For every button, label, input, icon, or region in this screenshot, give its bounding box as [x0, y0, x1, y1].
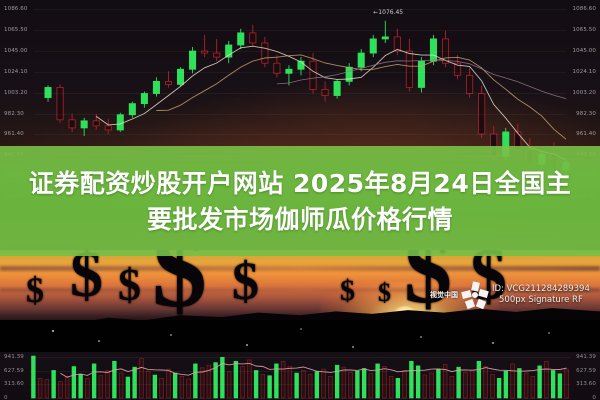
price-tick-label: 1003.20 [573, 90, 596, 96]
volume-tick-label: 0 [592, 395, 596, 400]
volume-bar [490, 374, 494, 398]
volume-bar [112, 361, 116, 398]
volume-gridline [30, 371, 570, 372]
volume-bar [376, 364, 380, 398]
volume-tick-label: 0 [4, 395, 8, 400]
dollar-sign-silhouette: $ [232, 254, 259, 308]
volume-bar [342, 367, 346, 398]
dollar-sign-silhouette: $ [340, 276, 355, 306]
dollar-sign-silhouette: $ [118, 262, 141, 308]
dust-particle [492, 342, 494, 344]
dust-particle [352, 346, 354, 348]
watermark-brand-label: 视觉中国 [430, 290, 458, 300]
gridline [34, 9, 566, 10]
volume-bar [463, 372, 467, 398]
volume-bar [558, 374, 562, 398]
volume-bar [281, 361, 285, 398]
price-tick-label: 982.30 [4, 111, 24, 117]
volume-gridline [30, 384, 570, 385]
volume-bar [92, 364, 96, 398]
volume-bar [31, 356, 35, 398]
volume-gridline [30, 357, 570, 358]
volume-bar [133, 367, 137, 398]
price-tick-label: 1045.00 [573, 48, 596, 54]
volume-bar [531, 376, 535, 398]
volume-tick-label: 313.60 [576, 381, 596, 387]
volume-tick-label: 313.60 [4, 381, 24, 387]
volume-bar [295, 373, 299, 398]
volume-tick-label: 941.39 [576, 354, 596, 360]
screenshot-root: $ $ $ $ $ $ $ $ $ ←1076.45 1086.601065.5… [0, 0, 600, 400]
volume-gridline [30, 398, 570, 399]
volume-bar [38, 378, 42, 398]
price-tick-label: 961.40 [576, 131, 596, 137]
gridline [34, 51, 566, 52]
gridline [34, 72, 566, 73]
watermark-license: 500px Signature RF [492, 295, 590, 306]
peak-annotation: ←1076.45 [373, 9, 403, 16]
volume-bar [153, 375, 157, 398]
volume-bar [268, 376, 272, 398]
volume-bar [45, 380, 49, 398]
volume-bar [524, 373, 528, 398]
dollar-sign-silhouette: $ [378, 280, 391, 306]
volume-tick-label: 627.59 [4, 368, 24, 374]
dust-particle [170, 334, 172, 336]
volume-bar [328, 376, 332, 398]
dust-particle [246, 344, 248, 346]
volume-tick-label: 627.59 [576, 368, 596, 374]
volume-bar [160, 378, 164, 398]
price-tick-label: 982.30 [576, 111, 596, 117]
volume-bar [187, 379, 191, 398]
volume-bar [450, 376, 454, 398]
volume-bar [126, 377, 130, 398]
volume-bar [511, 364, 515, 398]
volume-bar [409, 361, 413, 398]
price-tick-label: 1024.10 [573, 69, 596, 75]
headline-line-1: 证券配资炒股开户网站 2025年8月24日全国主 [29, 169, 571, 199]
dollar-sign-silhouette: $ [26, 272, 44, 308]
price-tick-label: 1086.60 [573, 6, 596, 12]
volume-bar [119, 373, 123, 398]
watermark-id: ID: VCG211284289394 [492, 284, 590, 295]
volume-bar [139, 359, 143, 398]
volume-bar [497, 378, 501, 398]
volume-bar [180, 376, 184, 398]
dust-particle [548, 332, 550, 334]
volume-bar [430, 373, 434, 398]
price-tick-label: 1086.60 [4, 6, 27, 12]
gridline [34, 30, 566, 31]
price-tick-label: 1003.20 [4, 90, 27, 96]
dust-particle [52, 330, 54, 332]
volume-bar [99, 376, 103, 398]
volume-bar [389, 376, 393, 398]
volume-bar [247, 360, 251, 398]
volume-bar [261, 374, 265, 398]
dust-particle [300, 328, 302, 330]
gridline [34, 114, 566, 115]
gridline [34, 93, 566, 94]
volume-bar [308, 374, 312, 398]
volume-bar [349, 372, 353, 398]
volume-bar [477, 361, 481, 398]
watermark: 视觉中国 ID: VCG211284289394 500px Signature… [430, 282, 590, 308]
volume-bar [193, 364, 197, 398]
volume-bar [79, 374, 83, 398]
watermark-logo-icon [462, 282, 488, 308]
volume-bar [85, 378, 89, 398]
price-tick-label: 1024.10 [4, 69, 27, 75]
volume-bar [544, 361, 548, 398]
price-tick-label: 961.40 [4, 131, 24, 137]
dust-particle [98, 340, 100, 342]
gridline [34, 134, 566, 135]
volume-bar [457, 367, 461, 398]
price-tick-label: 1045.00 [4, 48, 27, 54]
volume-bar [396, 378, 400, 398]
volume-bar [234, 361, 238, 398]
volume-bar [369, 374, 373, 398]
headline-line-2: 要批发市场伽师瓜价格行情 [147, 205, 453, 235]
volume-bar [423, 375, 427, 398]
volume-bar [173, 373, 177, 398]
volume-bar [65, 376, 69, 398]
dust-particle [420, 336, 422, 338]
headline-text-block: 证券配资炒股开户网站 2025年8月24日全国主 要批发市场伽师瓜价格行情 [0, 152, 600, 252]
price-tick-label: 1065.50 [573, 27, 596, 33]
price-tick-label: 1065.50 [4, 27, 27, 33]
volume-panel: 941.39627.59313.600 941.39627.59313.600 [0, 352, 600, 400]
volume-plot [0, 352, 600, 400]
volume-tick-label: 941.39 [4, 354, 24, 360]
